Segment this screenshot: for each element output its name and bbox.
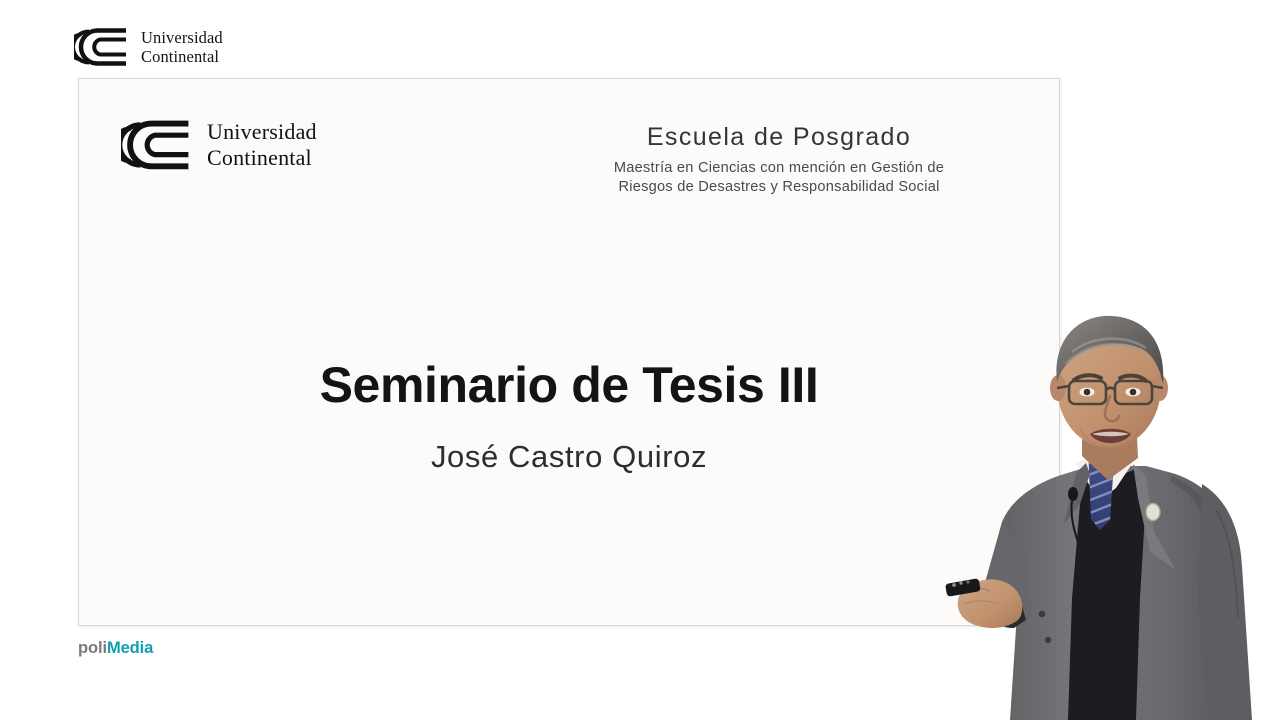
universidad-continental-logo-icon <box>74 27 128 67</box>
suit-lapel-left <box>1064 463 1090 524</box>
eyeglasses-icon <box>1057 381 1163 404</box>
sweater-vest <box>1068 468 1146 720</box>
suit-shading-right <box>1170 476 1232 618</box>
suit-button <box>1045 637 1051 643</box>
slide-brand-line-1: Universidad <box>207 119 317 144</box>
shirt-collar <box>1076 457 1132 498</box>
lavalier-mic-icon <box>1068 487 1078 501</box>
presentation-slide[interactable]: Universidad Continental Escuela de Posgr… <box>78 78 1060 626</box>
school-title: Escuela de Posgrado <box>509 123 1049 152</box>
program-subtitle: Maestría en Ciencias con mención en Gest… <box>509 159 1049 198</box>
universidad-continental-logo-icon <box>121 119 191 171</box>
presenter-head <box>1050 316 1168 448</box>
polimedia-media: Media <box>107 639 153 657</box>
brand-wordmark: Universidad Continental <box>141 28 223 67</box>
slide-brand: Universidad Continental <box>121 119 317 171</box>
program-subtitle-line-2: Riesgos de Desastres y Responsabilidad S… <box>618 179 939 195</box>
header-brand: Universidad Continental <box>74 26 223 68</box>
suit-sleeve-right <box>1198 484 1252 720</box>
slide-brand-line-2: Continental <box>207 145 312 170</box>
presenter-hair <box>1056 316 1163 384</box>
slide-main-title: Seminario de Tesis III <box>79 359 1059 412</box>
slide-brand-wordmark: Universidad Continental <box>207 119 317 171</box>
suit-lapel-right <box>1133 464 1176 570</box>
school-block: Escuela de Posgrado Maestría en Ciencias… <box>509 123 1049 198</box>
program-subtitle-line-1: Maestría en Ciencias con mención en Gest… <box>614 160 944 176</box>
slide-header: Universidad Continental Escuela de Posgr… <box>79 79 1059 219</box>
lapel-pin-icon <box>1146 504 1160 521</box>
polimedia-poli: poli <box>78 639 107 657</box>
brand-line-2: Continental <box>141 47 219 66</box>
slide-author-name: José Castro Quiroz <box>79 440 1059 474</box>
brand-line-1: Universidad <box>141 28 223 47</box>
slide-title-block: Seminario de Tesis III José Castro Quiro… <box>79 359 1059 474</box>
necktie <box>1076 433 1130 538</box>
presenter-neck <box>1082 418 1138 480</box>
polimedia-watermark: poliMedia <box>78 640 153 657</box>
